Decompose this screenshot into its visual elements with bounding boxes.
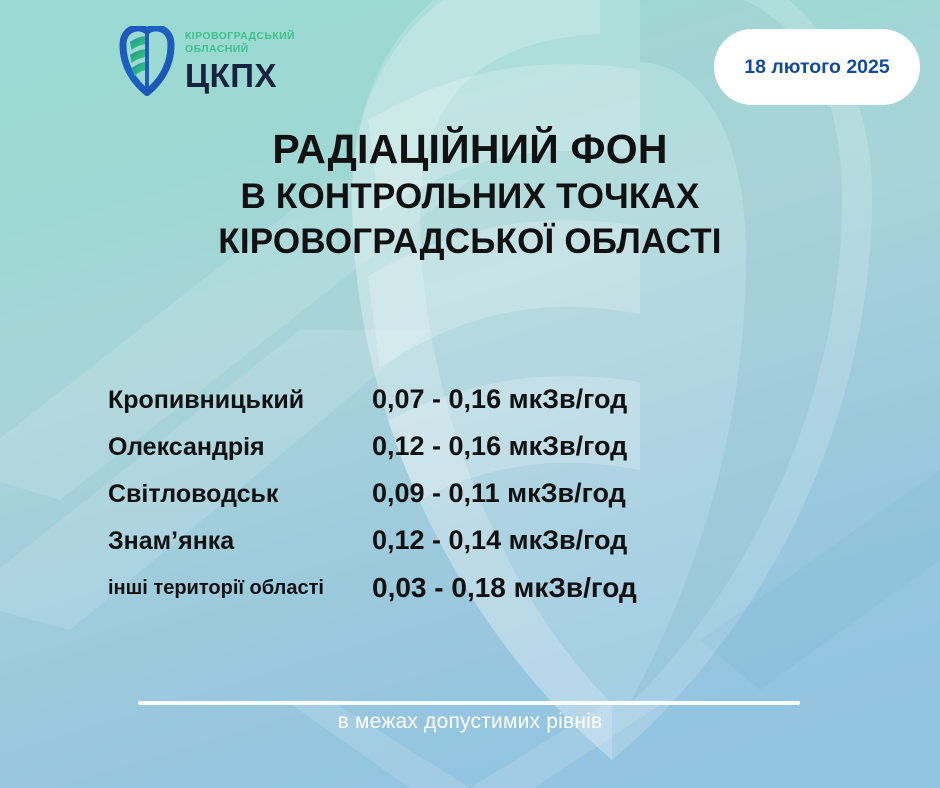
measurement-place: Кропивницький <box>0 386 372 415</box>
measurement-place: Знам’янка <box>0 527 372 556</box>
table-row: Кропивницький 0,07 - 0,16 мкЗв/год <box>0 384 940 431</box>
measurement-place: Олександрія <box>0 433 372 462</box>
measurement-place: інші території області <box>0 577 372 600</box>
title-line-1: РАДІАЦІЙНИЙ ФОН <box>0 126 940 172</box>
title-line-2: В КОНТРОЛЬНИХ ТОЧКАХ <box>0 177 940 217</box>
measurement-value: 0,03 - 0,18 мкЗв/год <box>372 572 637 604</box>
logo-acronym: ЦКПХ <box>185 59 295 92</box>
logo-wordmark: КІРОВОГРАДСЬКИЙ ОБЛАСНИЙ ЦКПХ <box>185 30 295 92</box>
table-row: Світловодськ 0,09 - 0,11 мкЗв/год <box>0 478 940 525</box>
shield-heart-logo-icon <box>118 26 176 96</box>
measurement-value: 0,12 - 0,16 мкЗв/год <box>372 431 627 462</box>
measurement-place: Світловодськ <box>0 480 372 509</box>
date-badge-text: 18 лютого 2025 <box>744 56 889 79</box>
title-line-3: КІРОВОГРАДСЬКОЇ ОБЛАСТІ <box>0 222 940 262</box>
logo-subtitle-line-1: КІРОВОГРАДСЬКИЙ <box>185 30 295 43</box>
organization-logo: КІРОВОГРАДСЬКИЙ ОБЛАСНИЙ ЦКПХ <box>118 26 295 96</box>
measurement-table: Кропивницький 0,07 - 0,16 мкЗв/год Олекс… <box>0 384 940 619</box>
measurement-value: 0,09 - 0,11 мкЗв/год <box>372 478 626 509</box>
footer-note: в межах допустимих рівнів <box>0 710 940 734</box>
logo-subtitle-line-2: ОБЛАСНИЙ <box>185 43 295 56</box>
measurement-value: 0,07 - 0,16 мкЗв/год <box>372 384 627 415</box>
page-title: РАДІАЦІЙНИЙ ФОН В КОНТРОЛЬНИХ ТОЧКАХ КІР… <box>0 126 940 261</box>
measurement-value: 0,12 - 0,14 мкЗв/год <box>372 525 627 556</box>
table-row: інші території області 0,03 - 0,18 мкЗв/… <box>0 572 940 619</box>
footer-divider <box>138 701 800 705</box>
table-row: Олександрія 0,12 - 0,16 мкЗв/год <box>0 431 940 478</box>
date-badge: 18 лютого 2025 <box>714 29 920 105</box>
table-row: Знам’янка 0,12 - 0,14 мкЗв/год <box>0 525 940 572</box>
radiation-background-infographic: КІРОВОГРАДСЬКИЙ ОБЛАСНИЙ ЦКПХ 18 лютого … <box>0 0 940 788</box>
